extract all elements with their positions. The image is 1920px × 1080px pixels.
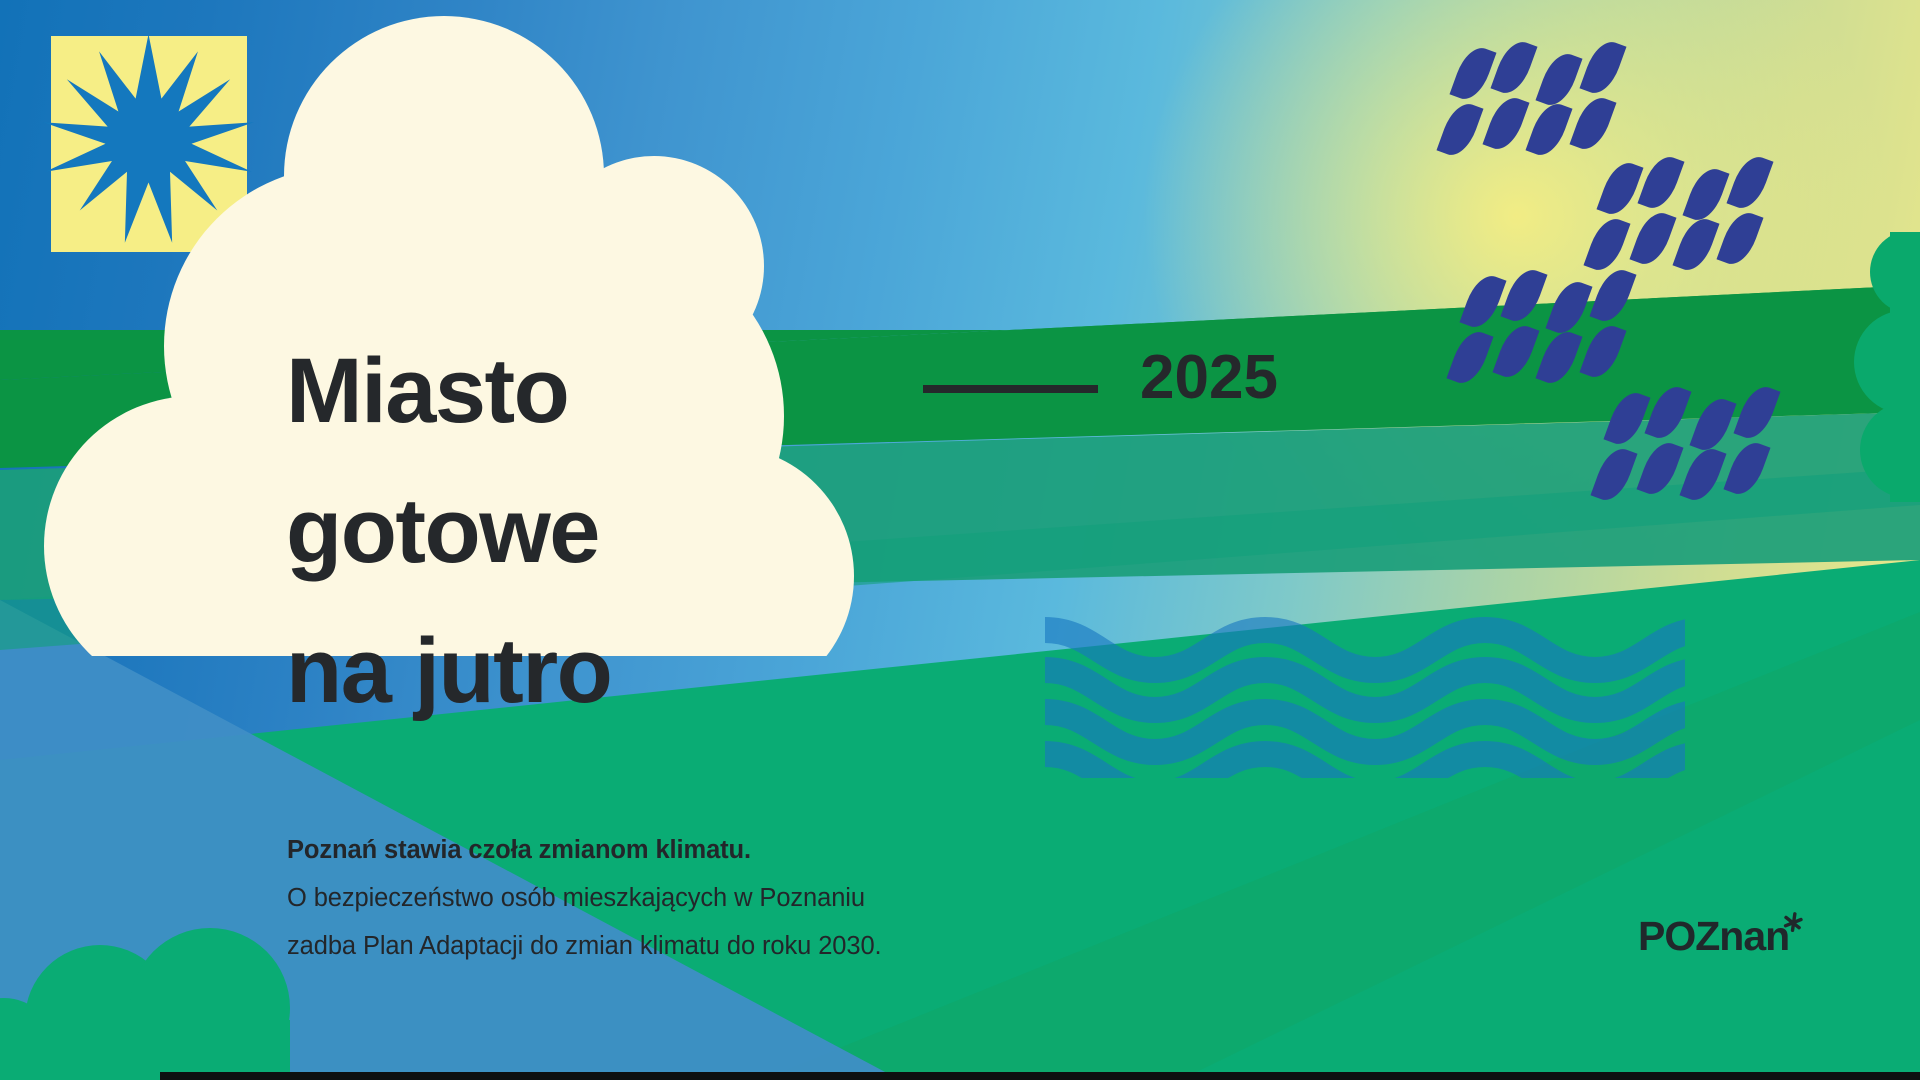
bottom-divider-bar [160,1072,1920,1080]
rain-drop-icon [1716,208,1763,270]
rain-drop-icon [1535,327,1582,389]
rain-drop-icon [1492,321,1539,383]
water-wave-lines [1045,608,1685,778]
rain-drop-icon [1500,265,1547,327]
rain-drop-icon [1579,37,1626,99]
rain-drop-icon [1490,37,1537,99]
headline-line-2: gotowe [286,462,926,602]
poznan-logo[interactable]: POZnan [1638,908,1806,964]
year-label: 2025 [1140,342,1278,413]
rain-drop-icon [1637,152,1684,214]
rain-drop-group-b [1605,155,1805,285]
year-rule-divider [923,385,1098,393]
bush-shape-right [1850,232,1920,502]
rain-drop-icon [1733,382,1780,444]
rain-drop-group-a [1458,40,1658,170]
rain-drop-group-d [1612,385,1812,515]
subtitle-line-3: zadba Plan Adaptacji do zmian klimatu do… [287,922,882,970]
rain-drop-icon [1723,438,1770,500]
subtitle-block: Poznań stawia czoła zmianom klimatu. O b… [287,826,882,970]
rain-drop-icon [1636,438,1683,500]
headline-line-1: Miasto [286,322,926,462]
rain-drop-icon [1644,382,1691,444]
rain-drop-icon [1672,214,1719,276]
rain-drop-icon [1525,99,1572,161]
rain-drop-icon [1482,93,1529,155]
rain-drop-icon [1679,444,1726,506]
subtitle-line-2: O bezpieczeństwo osób mieszkających w Po… [287,874,882,922]
rain-drop-icon [1589,265,1636,327]
bush-shape-left [0,920,290,1080]
subtitle-line-1: Poznań stawia czoła zmianom klimatu. [287,826,882,874]
svg-text:POZnan: POZnan [1638,913,1789,959]
rain-drop-icon [1629,208,1676,270]
rain-drop-icon [1545,277,1592,339]
rain-drop-icon [1682,164,1729,226]
rain-drop-icon [1535,49,1582,111]
rain-drop-icon [1569,93,1616,155]
rain-drop-group-c [1468,268,1668,398]
rain-drop-icon [1726,152,1773,214]
poster-canvas: Miasto gotowe na jutro 2025 Poznań stawi… [0,0,1920,1080]
rain-drop-icon [1689,394,1736,456]
headline-line-3: na jutro [286,602,926,742]
page-title: Miasto gotowe na jutro [286,322,926,741]
rain-drop-icon [1579,321,1626,383]
